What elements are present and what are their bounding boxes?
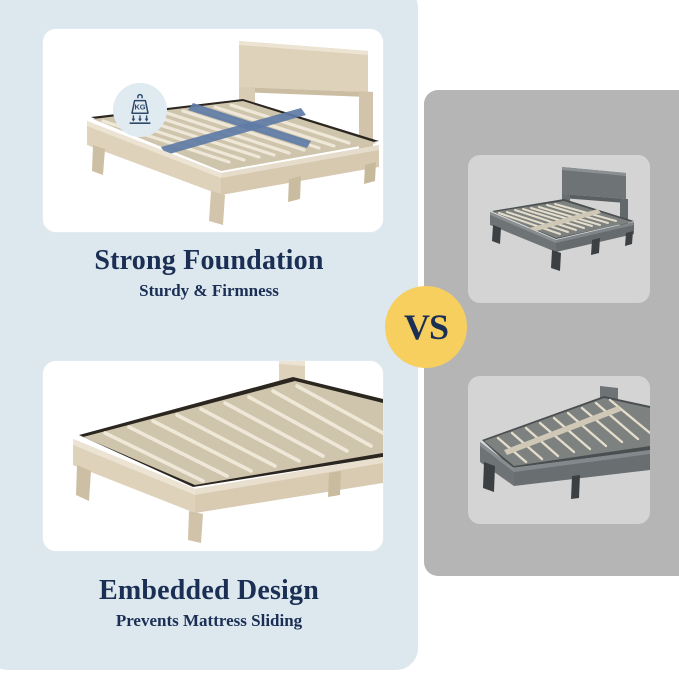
competitor-card-full-bed	[468, 155, 650, 303]
feature-subtitle: Sturdy & Firmness	[18, 282, 400, 301]
feature-card-embedded-design	[42, 360, 384, 552]
weight-kg-glyph: KG	[121, 91, 159, 129]
beige-bed-closeup-illustration	[43, 361, 383, 551]
svg-text:KG: KG	[134, 103, 145, 112]
weight-kg-icon: KG	[113, 83, 167, 137]
vs-badge: VS	[385, 286, 467, 368]
competitor-card-frame-corner	[468, 376, 650, 524]
feature-card-strong-foundation: KG	[42, 28, 384, 233]
feature-title: Embedded Design	[18, 576, 400, 607]
vs-label: VS	[404, 306, 448, 348]
gray-frame-corner-illustration	[468, 376, 650, 524]
feature-title: Strong Foundation	[18, 246, 400, 277]
infographic-root: KG Strong Foundation Sturdy & Firmness	[0, 0, 679, 679]
beige-bed-full-illustration	[43, 29, 383, 232]
gray-bed-full-illustration	[468, 155, 650, 303]
caption-strong-foundation: Strong Foundation Sturdy & Firmness	[18, 246, 400, 300]
caption-embedded-design: Embedded Design Prevents Mattress Slidin…	[18, 576, 400, 630]
feature-subtitle: Prevents Mattress Sliding	[18, 612, 400, 631]
